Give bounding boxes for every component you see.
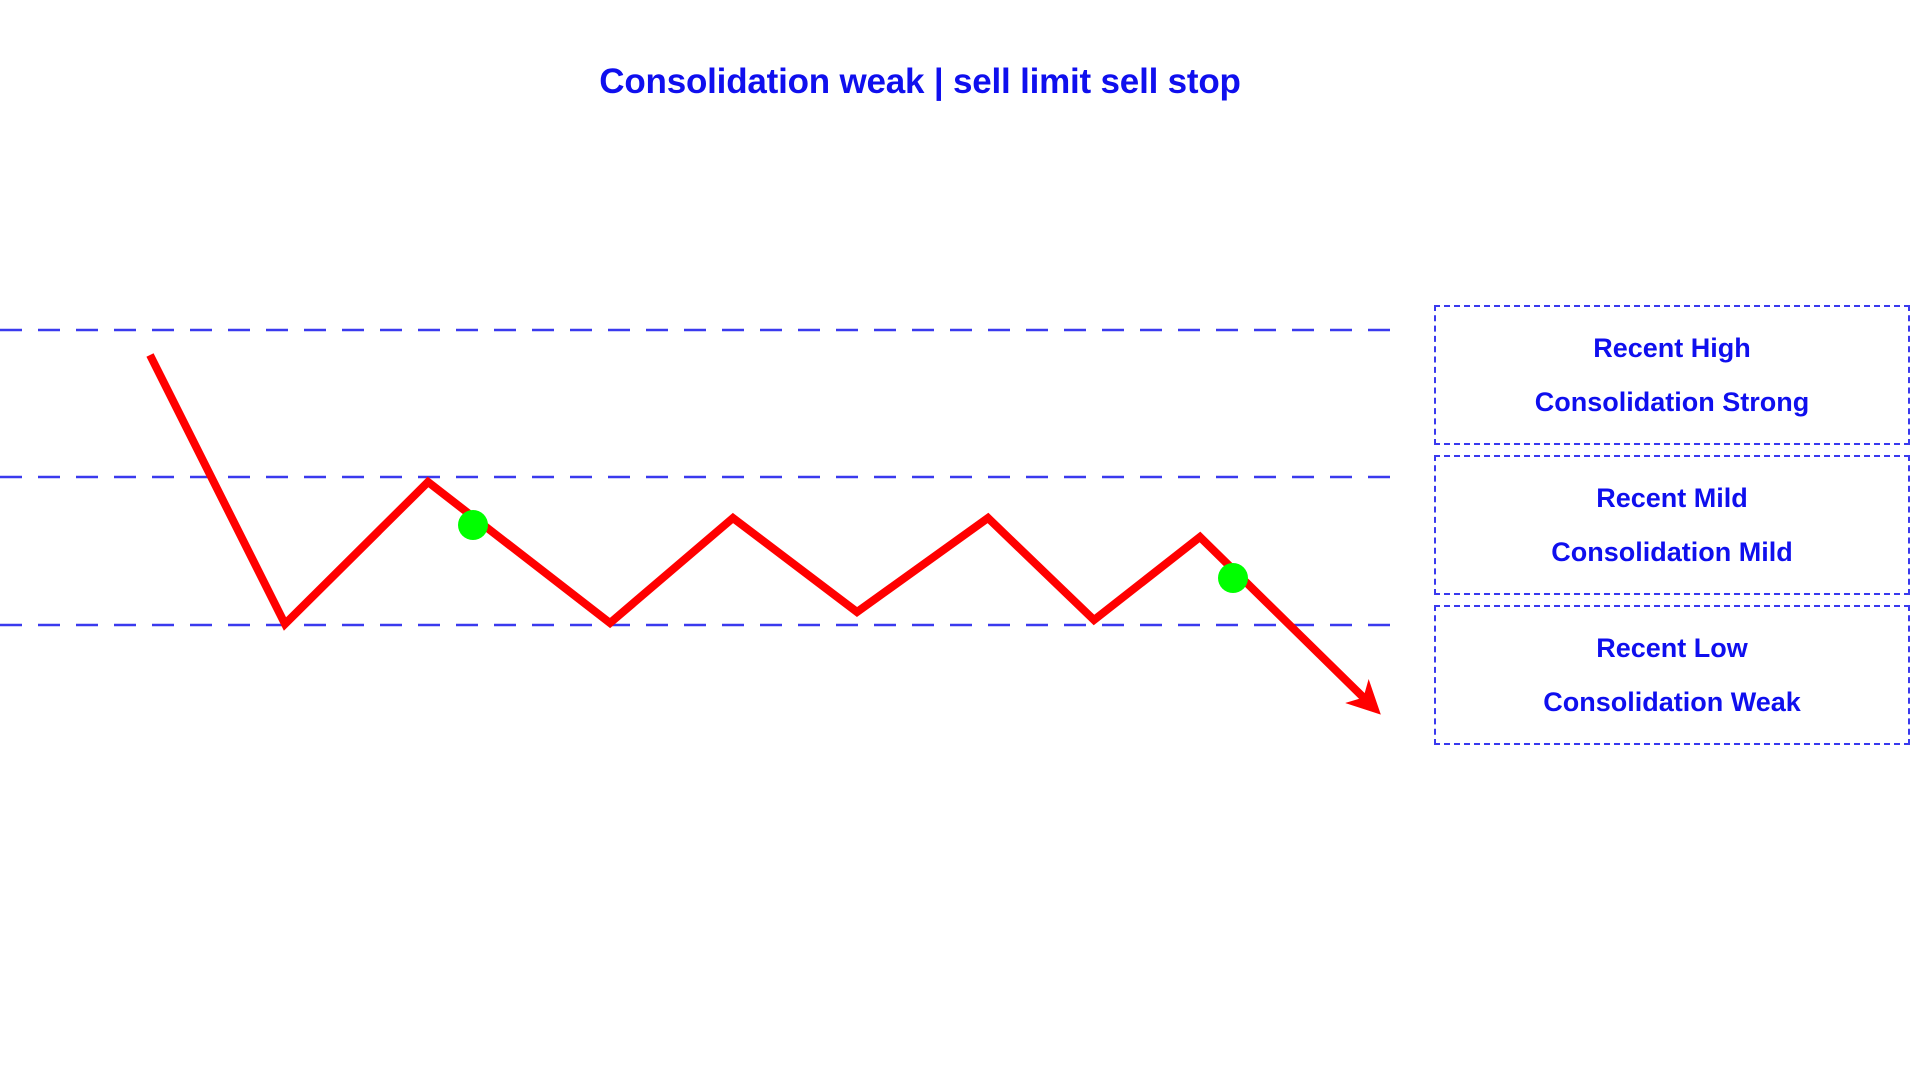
legend-recent-mild-line2: Consolidation Mild <box>1551 539 1792 566</box>
legend-recent-low-line2: Consolidation Weak <box>1543 689 1801 716</box>
sell-stop-marker[interactable] <box>1218 563 1248 593</box>
legend-box-recent-low: Recent Low Consolidation Weak <box>1434 605 1910 745</box>
legend-recent-high-line1: Recent High <box>1593 335 1751 362</box>
legend-box-recent-mild: Recent Mild Consolidation Mild <box>1434 455 1910 595</box>
price-action-line <box>150 355 1366 700</box>
sell-limit-marker[interactable] <box>458 510 488 540</box>
legend-recent-low-line1: Recent Low <box>1596 635 1748 662</box>
legend-recent-high-line2: Consolidation Strong <box>1535 389 1809 416</box>
legend-box-recent-high: Recent High Consolidation Strong <box>1434 305 1910 445</box>
entry-markers-group <box>458 510 1248 593</box>
diagram-canvas: Consolidation weak | sell limit sell sto… <box>0 0 1920 1080</box>
legend-recent-mild-line1: Recent Mild <box>1596 485 1748 512</box>
